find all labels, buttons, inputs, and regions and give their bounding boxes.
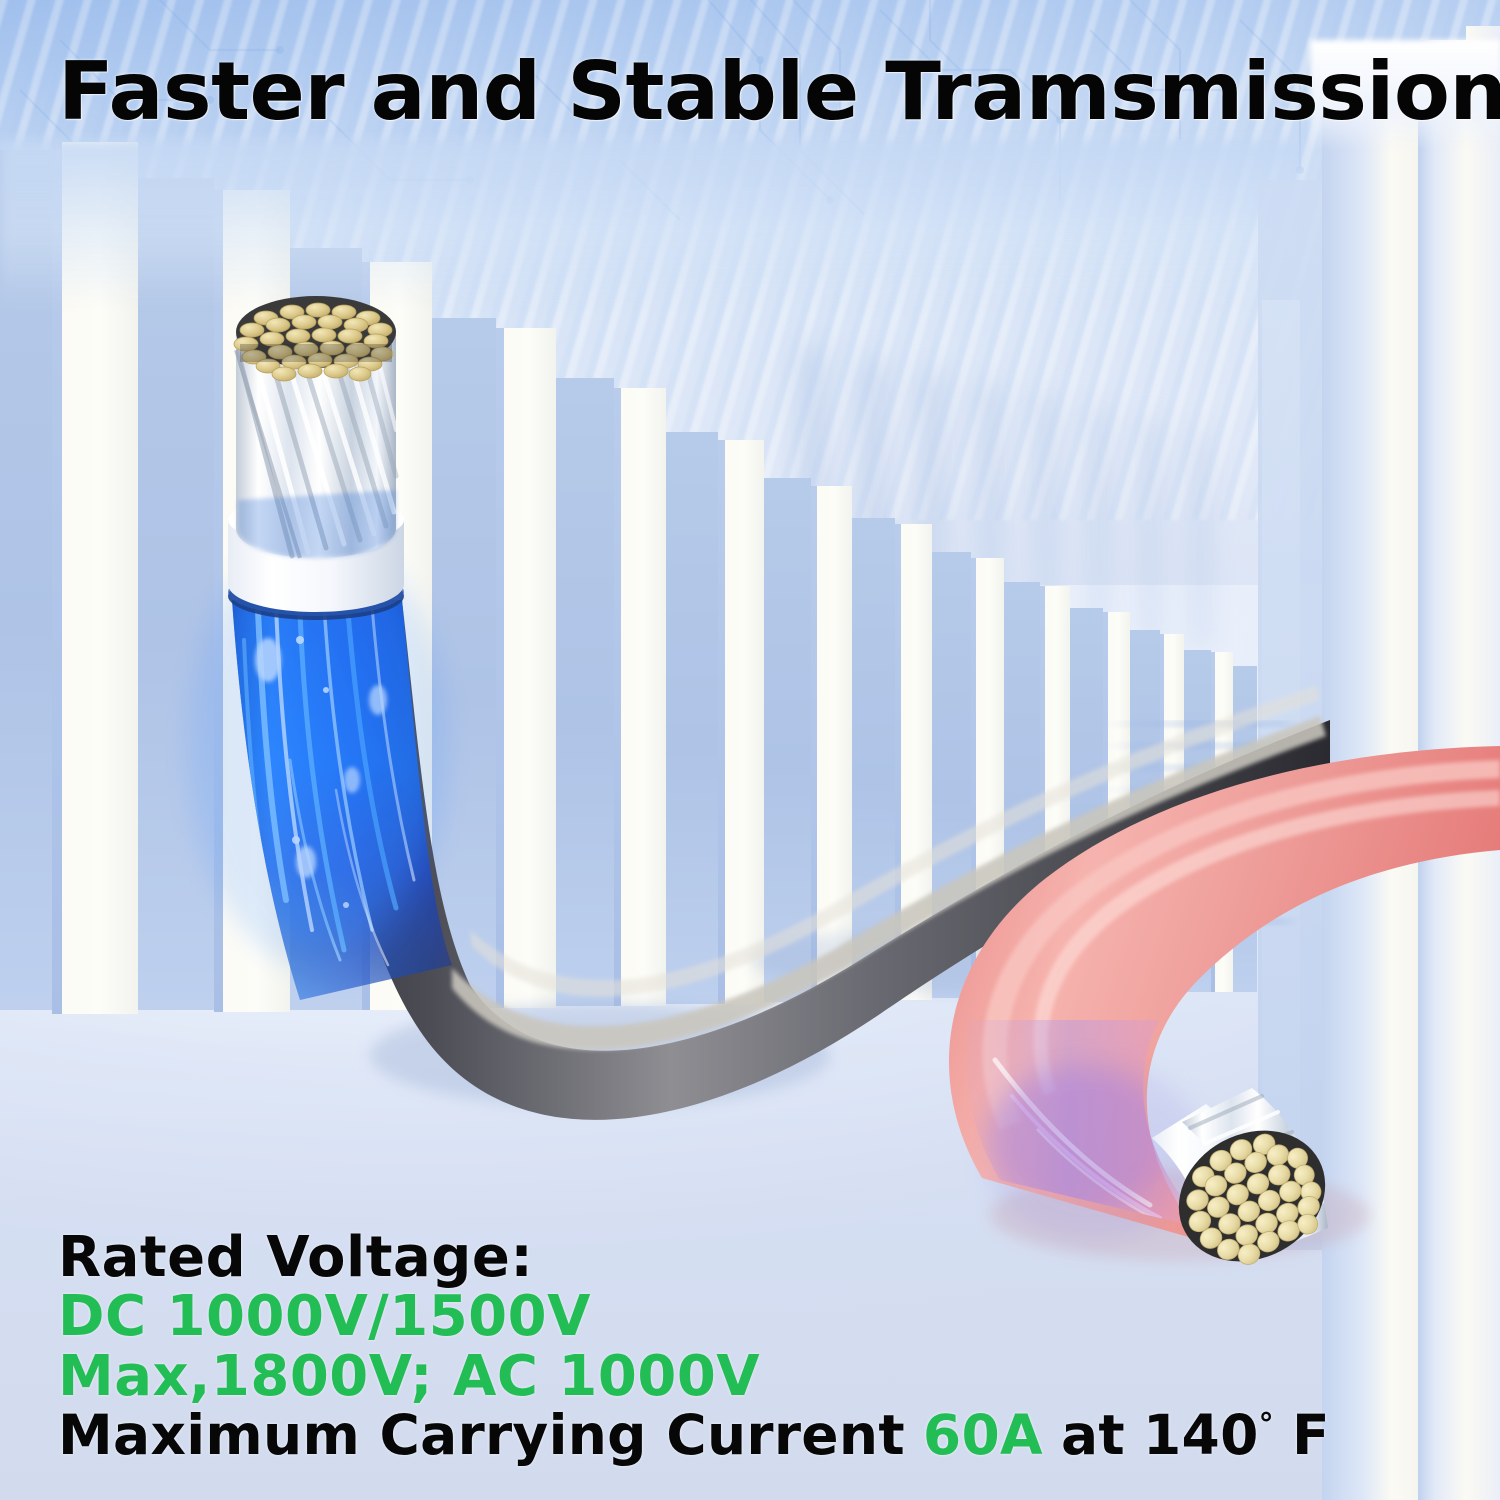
title-word: Stable — [567, 45, 859, 138]
degree-symbol: ° — [1259, 1408, 1274, 1443]
current-prefix: Maximum Carrying Current — [58, 1403, 905, 1467]
black-cable-conductor — [234, 296, 396, 558]
current-temperature: 140 — [1143, 1403, 1259, 1467]
current-value: 60A — [923, 1403, 1043, 1467]
page-title: FasterandStableTramsmission — [58, 52, 1476, 132]
spec-block: Rated Voltage: DC 1000V/1500V Max,1800V;… — [58, 1228, 1458, 1464]
rated-voltage-dc: DC 1000V/1500V — [58, 1287, 1458, 1346]
current-temp-unit: F — [1292, 1403, 1330, 1467]
rated-voltage-label: Rated Voltage: — [58, 1228, 1458, 1287]
rated-voltage-max-ac: Max,1800V; AC 1000V — [58, 1347, 1458, 1406]
title-word: and — [371, 45, 541, 138]
current-at: at — [1061, 1403, 1125, 1467]
max-carrying-current: Maximum Carrying Current60Aat140°F — [58, 1406, 1458, 1464]
title-word: Faster — [58, 45, 344, 138]
product-feature-image: FasterandStableTramsmission Rated Voltag… — [0, 0, 1500, 1500]
title-word: Tramsmission — [885, 45, 1500, 138]
